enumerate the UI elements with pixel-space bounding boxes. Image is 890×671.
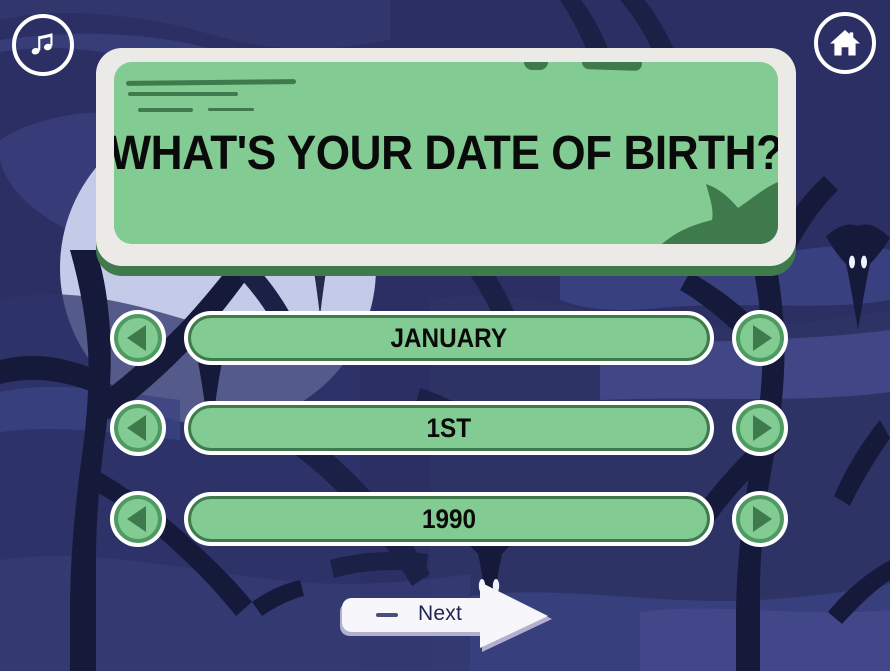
home-icon <box>829 28 861 58</box>
day-selector-row: 1ST <box>110 400 788 456</box>
next-dash-icon <box>376 613 398 617</box>
music-note-icon <box>28 30 58 60</box>
day-value: 1ST <box>427 413 472 444</box>
banner-panel: WHAT'S YOUR DATE OF BIRTH? <box>114 62 778 244</box>
page-title: WHAT'S YOUR DATE OF BIRTH? <box>141 62 752 244</box>
chevron-left-icon <box>127 415 146 441</box>
next-button[interactable]: Next <box>340 580 560 652</box>
quiz-screen: WHAT'S YOUR DATE OF BIRTH? JANUARY 1ST <box>0 0 890 671</box>
year-prev-button[interactable] <box>110 491 166 547</box>
next-button-label: Next <box>418 602 462 626</box>
month-selector-row: JANUARY <box>110 310 788 366</box>
day-next-button[interactable] <box>732 400 788 456</box>
music-toggle-button[interactable] <box>12 14 74 76</box>
home-button[interactable] <box>814 12 876 74</box>
chevron-right-icon <box>753 415 772 441</box>
chevron-right-icon <box>753 506 772 532</box>
month-value: JANUARY <box>391 323 508 354</box>
year-value: 1990 <box>422 504 476 535</box>
year-value-pill[interactable]: 1990 <box>184 492 714 546</box>
day-prev-button[interactable] <box>110 400 166 456</box>
month-next-button[interactable] <box>732 310 788 366</box>
chevron-left-icon <box>127 506 146 532</box>
month-prev-button[interactable] <box>110 310 166 366</box>
month-value-pill[interactable]: JANUARY <box>184 311 714 365</box>
question-banner: WHAT'S YOUR DATE OF BIRTH? <box>96 48 796 266</box>
day-value-pill[interactable]: 1ST <box>184 401 714 455</box>
chevron-left-icon <box>127 325 146 351</box>
year-next-button[interactable] <box>732 491 788 547</box>
chevron-right-icon <box>753 325 772 351</box>
year-selector-row: 1990 <box>110 491 788 547</box>
